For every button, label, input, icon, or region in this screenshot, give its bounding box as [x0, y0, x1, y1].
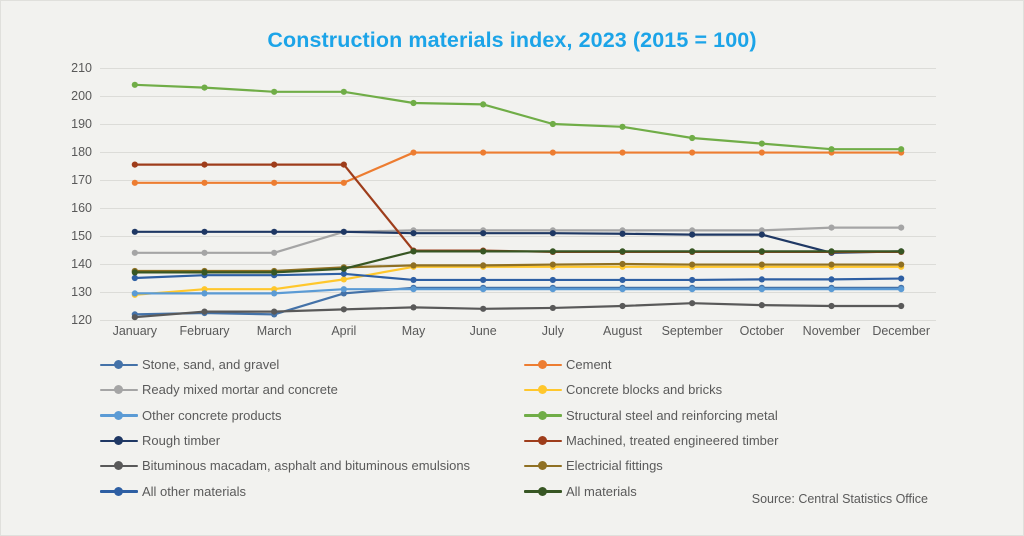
legend-swatch-icon — [100, 485, 138, 497]
data-point — [898, 225, 904, 231]
data-point — [759, 286, 765, 292]
data-point — [410, 277, 416, 283]
data-point — [550, 305, 556, 311]
legend-label: Electricial fittings — [566, 458, 663, 473]
legend-swatch-icon — [100, 384, 138, 396]
data-point — [132, 180, 138, 186]
data-point — [341, 89, 347, 95]
data-point — [201, 229, 207, 235]
legend-label: Structural steel and reinforcing metal — [566, 408, 778, 423]
data-point — [689, 149, 695, 155]
data-point — [759, 149, 765, 155]
chart-legend: Stone, sand, and gravelCementReady mixed… — [100, 352, 924, 504]
legend-label: Machined, treated engineered timber — [566, 433, 778, 448]
data-point — [898, 275, 904, 281]
series-line — [135, 274, 901, 280]
legend-item[interactable]: Structural steel and reinforcing metal — [524, 403, 924, 428]
data-point — [410, 230, 416, 236]
data-point — [132, 275, 138, 281]
legend-swatch-icon — [524, 409, 562, 421]
legend-swatch-icon — [100, 460, 138, 472]
legend-label: Bituminous macadam, asphalt and bitumino… — [142, 458, 470, 473]
x-axis-tick-label: March — [257, 324, 292, 338]
data-point — [689, 248, 695, 254]
data-point — [619, 231, 625, 237]
data-point — [689, 300, 695, 306]
series-line — [135, 165, 901, 252]
legend-label: All other materials — [142, 484, 246, 499]
legend-label: Stone, sand, and gravel — [142, 357, 279, 372]
data-point — [828, 146, 834, 152]
x-axis-tick-label: October — [740, 324, 784, 338]
data-point — [341, 286, 347, 292]
data-point — [271, 162, 277, 168]
data-point — [271, 180, 277, 186]
data-point — [898, 286, 904, 292]
series-line — [135, 232, 901, 253]
data-point — [132, 82, 138, 88]
data-point — [480, 248, 486, 254]
legend-label: Other concrete products — [142, 408, 281, 423]
data-point — [689, 277, 695, 283]
y-axis-tick-label: 190 — [46, 117, 92, 131]
data-point — [480, 286, 486, 292]
data-point — [201, 269, 207, 275]
chart-page: Construction materials index, 2023 (2015… — [0, 0, 1024, 536]
data-point — [201, 85, 207, 91]
data-point — [619, 124, 625, 130]
data-point — [341, 180, 347, 186]
data-point — [341, 229, 347, 235]
data-point — [480, 101, 486, 107]
data-point — [132, 314, 138, 320]
data-point — [410, 262, 416, 268]
data-point — [689, 135, 695, 141]
data-point — [550, 121, 556, 127]
y-axis-tick-label: 210 — [46, 61, 92, 75]
y-axis-tick-label: 130 — [46, 285, 92, 299]
data-point — [898, 303, 904, 309]
y-axis-tick-label: 140 — [46, 257, 92, 271]
data-point — [759, 276, 765, 282]
data-point — [410, 304, 416, 310]
data-point — [759, 141, 765, 147]
x-axis-tick-label: February — [179, 324, 229, 338]
data-point — [759, 248, 765, 254]
data-point — [828, 261, 834, 267]
data-point — [341, 276, 347, 282]
data-point — [480, 262, 486, 268]
legend-swatch-icon — [100, 359, 138, 371]
legend-item[interactable]: Concrete blocks and bricks — [524, 377, 924, 402]
data-point — [759, 302, 765, 308]
data-point — [759, 261, 765, 267]
source-note: Source: Central Statistics Office — [752, 492, 928, 506]
data-point — [201, 290, 207, 296]
data-point — [480, 230, 486, 236]
data-point — [132, 269, 138, 275]
legend-item[interactable]: Bituminous macadam, asphalt and bitumino… — [100, 453, 500, 478]
data-point — [271, 269, 277, 275]
data-point — [689, 232, 695, 238]
data-point — [828, 225, 834, 231]
data-point — [341, 306, 347, 312]
x-axis-tick-label: May — [402, 324, 426, 338]
legend-swatch-icon — [524, 435, 562, 447]
data-point — [341, 162, 347, 168]
data-point — [480, 277, 486, 283]
page-title: Construction materials index, 2023 (2015… — [0, 28, 1024, 53]
legend-label: All materials — [566, 484, 637, 499]
data-point — [550, 149, 556, 155]
data-point — [201, 250, 207, 256]
series-line — [135, 251, 901, 272]
data-point — [201, 309, 207, 315]
data-point — [410, 149, 416, 155]
gridline — [100, 320, 936, 321]
x-axis-tick-label: January — [113, 324, 157, 338]
data-point — [898, 248, 904, 254]
y-axis-tick-label: 180 — [46, 145, 92, 159]
legend-swatch-icon — [100, 409, 138, 421]
y-axis-tick-label: 150 — [46, 229, 92, 243]
legend-label: Ready mixed mortar and concrete — [142, 382, 338, 397]
legend-item[interactable]: Electricial fittings — [524, 453, 924, 478]
data-point — [828, 303, 834, 309]
data-point — [132, 162, 138, 168]
data-point — [341, 266, 347, 272]
data-point — [619, 261, 625, 267]
x-axis-tick-label: December — [872, 324, 930, 338]
data-point — [201, 180, 207, 186]
y-axis: 210200190180170160150140130120 — [46, 68, 92, 320]
data-point — [689, 286, 695, 292]
x-axis-tick-label: June — [470, 324, 497, 338]
legend-item[interactable]: Stone, sand, and gravel — [100, 352, 500, 377]
data-point — [828, 248, 834, 254]
series-structural-steel-and-reinforcing-metal — [132, 82, 905, 153]
y-axis-tick-label: 170 — [46, 173, 92, 187]
data-point — [271, 250, 277, 256]
data-point — [759, 232, 765, 238]
x-axis-tick-label: July — [542, 324, 564, 338]
data-point — [410, 286, 416, 292]
series-line — [135, 85, 901, 149]
data-point — [480, 306, 486, 312]
data-point — [619, 149, 625, 155]
data-point — [410, 100, 416, 106]
data-point — [410, 248, 416, 254]
series-line — [135, 153, 901, 183]
data-point — [898, 146, 904, 152]
data-point — [271, 290, 277, 296]
data-point — [550, 261, 556, 267]
series-line — [135, 288, 901, 315]
series-bituminous-macadam-asphalt-and-bituminous-emulsions — [132, 300, 905, 320]
x-axis-tick-label: August — [603, 324, 642, 338]
y-axis-tick-label: 120 — [46, 313, 92, 327]
data-point — [619, 277, 625, 283]
chart-series-layer — [100, 68, 936, 320]
data-point — [480, 149, 486, 155]
data-point — [132, 250, 138, 256]
data-point — [132, 229, 138, 235]
y-axis-tick-label: 160 — [46, 201, 92, 215]
legend-item[interactable]: All other materials — [100, 478, 500, 503]
data-point — [689, 261, 695, 267]
data-point — [619, 286, 625, 292]
x-axis-tick-label: September — [662, 324, 723, 338]
data-point — [550, 277, 556, 283]
legend-swatch-icon — [524, 384, 562, 396]
legend-item[interactable]: Cement — [524, 352, 924, 377]
data-point — [271, 309, 277, 315]
legend-item[interactable]: Rough timber — [100, 428, 500, 453]
data-point — [619, 248, 625, 254]
series-cement — [132, 149, 905, 185]
x-axis-tick-label: November — [803, 324, 861, 338]
data-point — [550, 286, 556, 292]
legend-swatch-icon — [524, 485, 562, 497]
legend-label: Concrete blocks and bricks — [566, 382, 722, 397]
legend-swatch-icon — [100, 435, 138, 447]
legend-item[interactable]: Other concrete products — [100, 403, 500, 428]
x-axis: JanuaryFebruaryMarchAprilMayJuneJulyAugu… — [100, 324, 936, 344]
series-line — [135, 303, 901, 317]
legend-item[interactable]: Machined, treated engineered timber — [524, 428, 924, 453]
legend-label: Cement — [566, 357, 612, 372]
legend-swatch-icon — [524, 460, 562, 472]
legend-item[interactable]: Ready mixed mortar and concrete — [100, 377, 500, 402]
data-point — [132, 290, 138, 296]
legend-label: Rough timber — [142, 433, 220, 448]
data-point — [271, 229, 277, 235]
data-point — [828, 276, 834, 282]
data-point — [271, 89, 277, 95]
data-point — [828, 286, 834, 292]
x-axis-tick-label: April — [331, 324, 356, 338]
data-point — [619, 303, 625, 309]
data-point — [550, 230, 556, 236]
data-point — [201, 162, 207, 168]
plot-area — [100, 68, 936, 320]
legend-swatch-icon — [524, 359, 562, 371]
y-axis-tick-label: 200 — [46, 89, 92, 103]
data-point — [898, 261, 904, 267]
data-point — [550, 248, 556, 254]
